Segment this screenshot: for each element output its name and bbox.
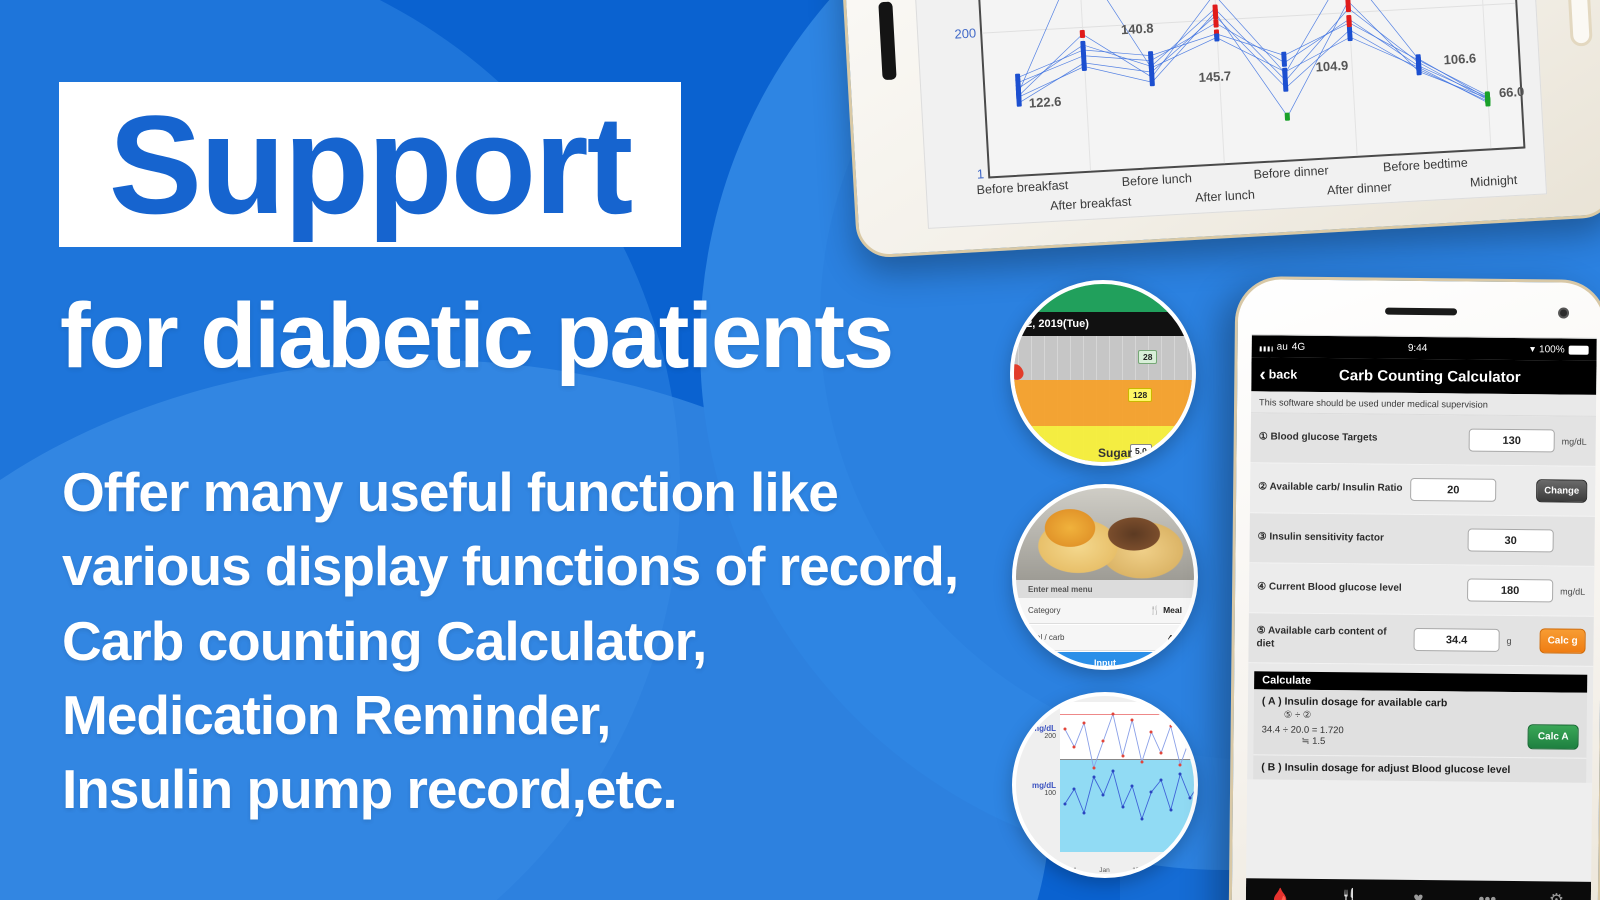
trend-data-point [1111,713,1114,716]
phone-screen: au 4G 9:44 ▾ 100% ‹ back Carb Counting C… [1246,334,1597,900]
meal-row-category: Category 🍴Meal [1016,598,1194,624]
trend-x-label: 15 [1132,867,1139,874]
calculator-field-row: ⑤ Available carb content of diet34.4gCal… [1248,613,1594,667]
calc-a-formula: ⑤ ÷ ② [1284,710,1579,724]
body-line-3: Carb counting Calculator, [62,604,958,678]
vitals-icon: ♥ [1413,890,1423,900]
wifi-icon: ▾ [1530,344,1535,355]
calculate-section: Calculate ( A ) Insulin dosage for avail… [1247,663,1593,783]
trend-data-point [1179,773,1182,776]
status-bar-left: au 4G [1260,341,1306,352]
back-button-label: back [1269,367,1298,381]
trend-data-point [1131,785,1134,788]
trend-data-point [1150,791,1153,794]
trend-graphic: mg/dL 200 mg/dL 100 1Jan15Feb28 [1016,692,1198,878]
settings-icon: ⚙ [1549,891,1564,900]
chart-data-point [1213,19,1218,27]
chart-series-layer [972,0,1523,176]
trend-ytick-upper-value: 200 [1032,733,1056,740]
fork-icon: 🍴 [1150,605,1161,615]
network-label: 4G [1292,341,1305,352]
support-highlight-box: Support [59,82,681,247]
tab-blood-glucose[interactable]: 🩸Blood Glucose [1246,888,1315,900]
trend-data-point [1131,719,1134,722]
chart-point-label: 104.9 [1315,58,1348,75]
status-bar-right: ▾ 100% [1530,344,1589,356]
trend-ytick-upper-unit: mg/dL [1032,724,1056,733]
battery-icon [1569,345,1589,354]
chart-data-point [1149,78,1154,86]
chart-data-point [1214,33,1219,41]
battery-percent: 100% [1539,344,1565,355]
glucose-trend-chart: 4002001122.6140.8145.7185.8104.9214.4106… [908,0,1546,228]
trend-data-point [1083,722,1086,725]
bottom-tab-bar: 🩸Blood Glucose🍴Meal♥Vitals•••Other⚙Setti… [1246,878,1591,900]
chart-point-label: 122.6 [1028,93,1061,110]
chart-data-point [1285,112,1290,120]
chart-data-point [1283,84,1288,92]
trend-data-point [1140,818,1143,821]
chart-data-point [1346,4,1351,12]
calc-g-button[interactable]: Calc g [1539,628,1585,653]
chart-data-point [1485,94,1490,102]
blood-glucose-icon: 🩸 [1270,888,1291,900]
body-line-5: Insulin pump record,etc. [62,752,958,826]
timeline-orange-band [1010,380,1196,426]
field-value-input[interactable]: 130 [1469,429,1555,453]
chart-x-tick-label: Before breakfast [976,178,1068,197]
calculator-field-row: ③ Insulin sensitivity factor30 [1249,513,1595,567]
meal-photo [1016,488,1194,580]
chart-point-label: 66.0 [1499,84,1525,100]
calculator-field-row: ① Blood glucose Targets130mg/dL [1250,413,1596,467]
field-label: ③ Insulin sensitivity factor [1258,532,1461,547]
calc-b-title: ( B ) Insulin dosage for adjust Blood gl… [1261,761,1578,776]
chart-x-tick-label: After dinner [1327,180,1392,198]
field-label: ① Blood glucose Targets [1259,432,1462,447]
body-line-4: Medication Reminder, [62,678,958,752]
trend-x-label: Jan [1099,867,1109,874]
trend-data-point [1188,737,1191,740]
field-value-input[interactable]: 30 [1468,529,1554,553]
carrier-label: au [1277,341,1288,352]
trend-data-point [1092,767,1095,770]
chart-x-tick-label: After breakfast [1050,195,1132,214]
timeline-chip-2: 28 [1138,350,1157,364]
calc-a-title: ( A ) Insulin dosage for available carb [1262,695,1579,710]
back-button[interactable]: ‹ back [1259,365,1297,384]
chart-data-point [1347,33,1352,41]
chart-data-point [1081,46,1086,54]
signal-bars-icon [1260,342,1273,351]
trend-data-point [1063,728,1066,731]
chart-x-tick-label: Before bedtime [1383,156,1468,175]
field-value-input[interactable]: 180 [1467,579,1553,603]
chart-data-point [1016,93,1021,101]
trend-data-point [1169,725,1172,728]
chart-data-point [1282,51,1287,59]
trend-data-point [1169,809,1172,812]
chart-point-label: 106.6 [1443,51,1476,68]
field-value-input[interactable]: 20 [1410,478,1496,502]
trend-data-point [1083,812,1086,815]
chart-y-tick: 200 [954,25,977,41]
trend-ytick-lower-unit: mg/dL [1032,781,1056,790]
trend-data-point [1121,806,1124,809]
thumbnail-trend-chart[interactable]: mg/dL 200 mg/dL 100 1Jan15Feb28 [1012,692,1198,878]
tab-other[interactable]: •••Other [1453,890,1522,900]
chart-x-tick-label: After lunch [1195,188,1255,205]
chart-data-point [1212,8,1217,16]
chart-data-point [1080,30,1085,38]
chart-data-point [1149,64,1154,72]
body-line-2: various display functions of record, [62,529,958,603]
trend-data-point [1073,746,1076,749]
meal-icon: 🍴 [1339,889,1360,900]
trend-x-label: Feb [1162,867,1173,874]
calculator-field-row: ② Available carb/ Insulin Ratio20Change [1250,463,1596,517]
chart-data-point [1345,0,1350,5]
calculator-field-list: ① Blood glucose Targets130mg/dL② Availab… [1248,413,1596,667]
chart-data-point [1416,67,1421,75]
trend-data-point [1150,731,1153,734]
field-unit: mg/dL [1560,586,1586,596]
body-line-1: Offer many useful function like [62,455,958,529]
meal-category-text: Meal [1163,605,1182,615]
chart-data-point [1015,73,1020,81]
trend-data-point [1073,788,1076,791]
trend-data-point [1160,779,1163,782]
timeline-word: Sugar [1098,446,1132,460]
hero-subtitle: for diabetic patients [60,288,892,385]
thumbnail-day-timeline[interactable]: 02, 2019(Tue) 52 28 128 5.0 Sugar [1010,280,1196,466]
thumbnail-meal-entry[interactable]: Enter meal menu Category 🍴Meal kcal / ca… [1012,484,1198,670]
field-unit: g [1507,635,1533,645]
trend-data-point [1092,776,1095,779]
trend-data-point [1102,794,1105,797]
trend-data-point [1063,803,1066,806]
field-label: ④ Current Blood glucose level [1257,582,1460,597]
trend-plot-area: mg/dL 200 mg/dL 100 [1060,702,1198,852]
status-time: 9:44 [1408,342,1428,353]
calculator-field-row: ④ Current Blood glucose level180mg/dL [1249,563,1595,617]
trend-ytick-upper: mg/dL 200 [1032,724,1056,740]
phone-earpiece [1385,308,1457,316]
screen-title: Carb Counting Calculator [1297,366,1588,386]
meal-kcal-label: kcal / carb [1028,633,1064,642]
chart-x-tick-label: Midnight [1470,173,1518,190]
trend-x-label: 1 [1073,867,1077,874]
chart-point-label: 140.8 [1121,20,1154,37]
timeline-graphic: 02, 2019(Tue) 52 28 128 5.0 Sugar [1010,280,1196,466]
chart-data-point [1347,19,1352,27]
chart-data-point [1148,51,1153,59]
timeline-green-band [1010,280,1196,312]
tab-settings[interactable]: ⚙Settings [1522,891,1591,900]
meal-row-kcal: kcal / carb 404 [1016,625,1194,651]
meal-category-value: 🍴Meal [1150,605,1183,616]
trend-ytick-lower: mg/dL 100 [1032,781,1056,797]
change-button[interactable]: Change [1536,479,1587,503]
timeline-date-bar: 02, 2019(Tue) [1010,312,1196,336]
chart-y-tick: 1 [976,166,984,181]
tablet-screen: 4002001122.6140.8145.7185.8104.9214.4106… [906,0,1547,229]
timeline-chip-4: 5.0 [1130,444,1152,458]
trend-data-point [1102,740,1105,743]
other-icon: ••• [1478,891,1496,900]
hero-body-copy: Offer many useful function like various … [62,455,958,826]
timeline-chip-3: 128 [1128,388,1152,402]
app-navbar: ‹ back Carb Counting Calculator [1251,357,1596,395]
calc-block-b: ( B ) Insulin dosage for adjust Blood gl… [1253,755,1586,782]
trend-data-point [1160,752,1163,755]
chart-x-tick-label: Before dinner [1253,163,1329,181]
field-value-input[interactable]: 34.4 [1413,628,1499,652]
meal-form-title: Enter meal menu [1016,580,1194,598]
calc-block-a: ( A ) Insulin dosage for available carb … [1253,689,1587,758]
phone-device: au 4G 9:44 ▾ 100% ‹ back Carb Counting C… [1229,276,1600,900]
trend-data-point [1111,770,1114,773]
chart-plot-area: 4002001122.6140.8145.7185.8104.9214.4106… [970,0,1525,178]
chevron-left-icon: ‹ [1259,365,1266,384]
tablet-device: 4002001122.6140.8145.7185.8104.9214.4106… [834,0,1600,259]
page-title: Support [109,95,632,235]
calc-a-button[interactable]: Calc A [1528,724,1579,750]
trend-data-point [1179,764,1182,767]
trend-data-point [1188,797,1191,800]
meal-kcal-value: 404 [1168,633,1182,643]
trend-data-point [1140,761,1143,764]
meal-category-label: Category [1028,606,1060,615]
tab-vitals[interactable]: ♥Vitals [1384,890,1453,900]
trend-series-layer [1060,702,1198,852]
chart-point-label: 145.7 [1198,68,1231,85]
field-unit: mg/dL [1562,436,1588,446]
chart-data-point [1282,58,1287,66]
tab-meal[interactable]: 🍴Meal [1315,889,1384,900]
trend-ytick-lower-value: 100 [1032,790,1056,797]
chart-x-tick-label: Before lunch [1121,171,1192,189]
field-label: ⑤ Available carb content of diet [1256,625,1406,652]
trend-data-point [1121,755,1124,758]
chart-data-point [1282,68,1287,76]
trend-x-labels: 1Jan15Feb28 [1062,867,1198,874]
phone-front-camera [1558,307,1569,318]
chart-data-point [1082,62,1087,70]
field-label: ② Available carb/ Insulin Ratio [1258,482,1403,496]
